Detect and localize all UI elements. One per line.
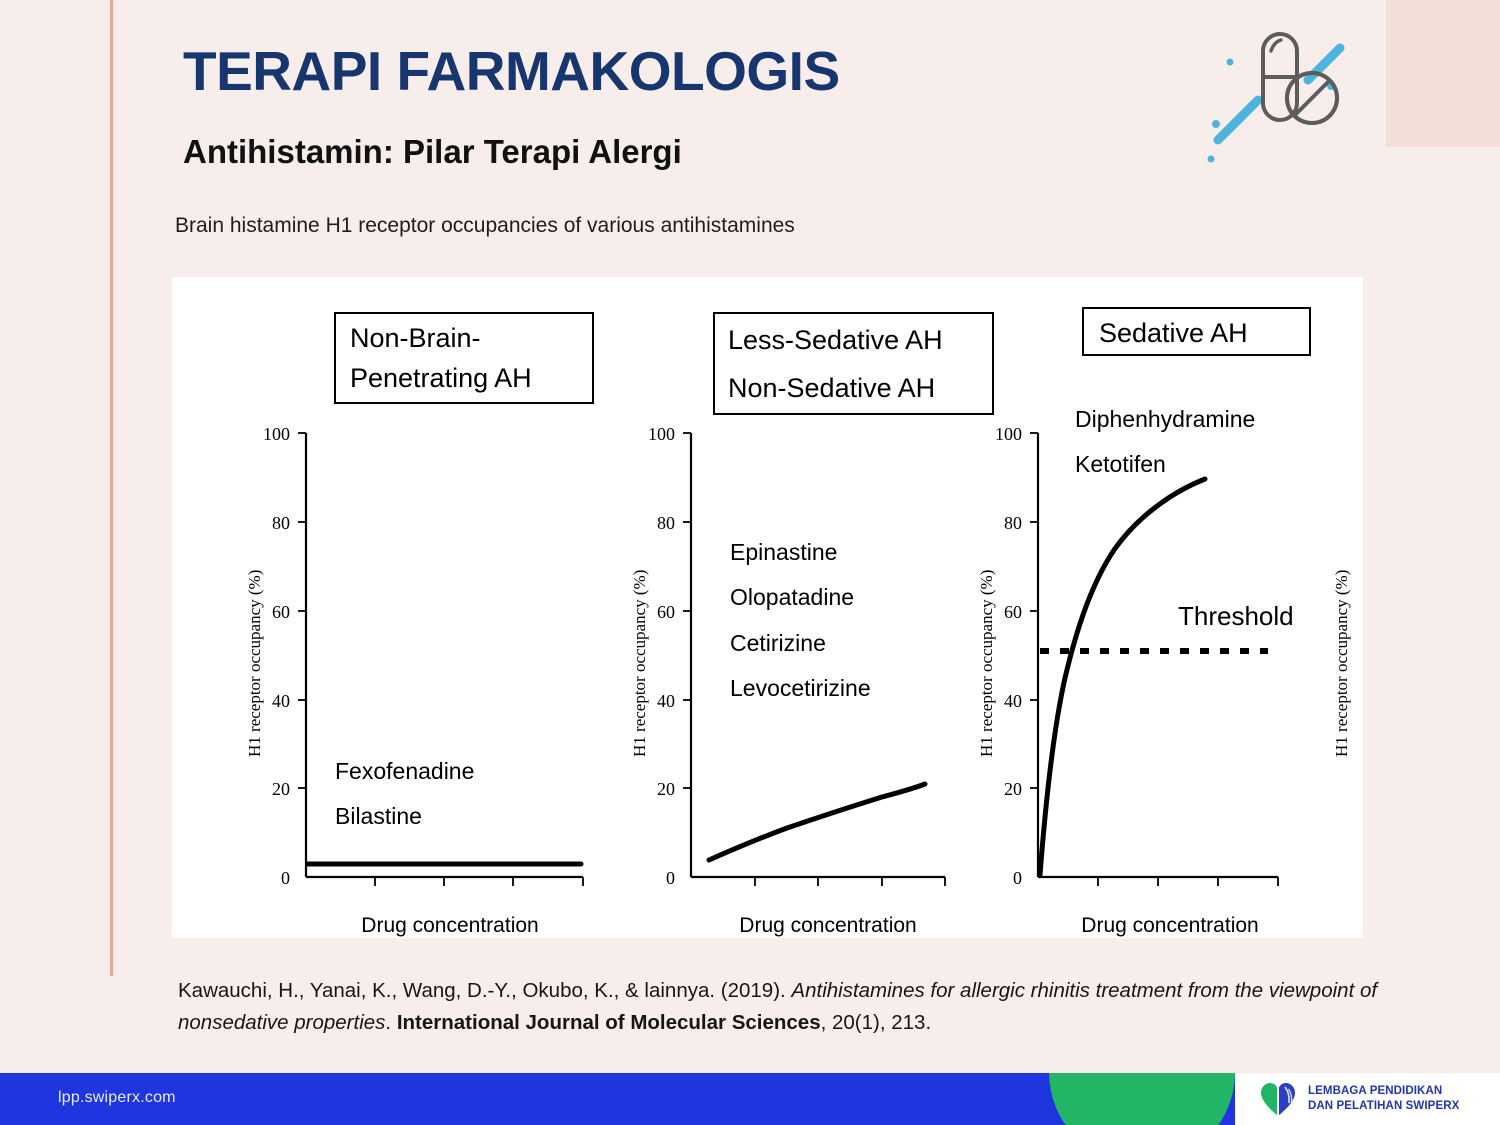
panel2-y-ticks <box>683 433 691 788</box>
panel1-ytick-0: 0 <box>281 868 290 888</box>
panel3-series-curve <box>1040 479 1205 875</box>
panel3-y-axis-label: H1 receptor occupancy (%) <box>977 570 996 757</box>
panel2-drug-label-4: Levocetirizine <box>730 675 871 701</box>
panel2-ytick-20: 20 <box>657 779 675 799</box>
panel2-drug-label-2: Olopatadine <box>730 584 854 610</box>
page-subtitle: Antihistamin: Pilar Terapi Alergi <box>183 135 682 168</box>
panel3-ytick-20: 20 <box>1004 779 1022 799</box>
panel2-title-line1: Less-Sedative AH <box>728 325 943 355</box>
panel1-ytick-80: 80 <box>272 513 290 533</box>
logo-line-1: LEMBAGA PENDIDIKAN <box>1308 1084 1459 1099</box>
panel2-x-axis-label: Drug concentration <box>739 914 916 937</box>
panel3-ytick-80: 80 <box>1004 513 1022 533</box>
citation-journal: International Journal of Molecular Scien… <box>397 1011 821 1034</box>
figure-caption: Brain histamine H1 receptor occupancies … <box>175 213 795 238</box>
panel3-drug-label-1: Diphenhydramine <box>1075 406 1255 432</box>
panel3-ytick-40: 40 <box>1004 691 1022 711</box>
corner-decor-block <box>1386 0 1500 147</box>
panel2-drug-label-1: Epinastine <box>730 539 837 565</box>
panel2-title-line2: Non-Sedative AH <box>728 373 935 403</box>
source-citation: Kawauchi, H., Yanai, K., Wang, D.-Y., Ok… <box>178 975 1448 1039</box>
panel1-ytick-20: 20 <box>272 779 290 799</box>
citation-sep: . <box>385 1011 396 1034</box>
panel2-ytick-100: 100 <box>648 424 675 444</box>
panel1-ytick-100: 100 <box>263 424 290 444</box>
panel2-ytick-0: 0 <box>666 868 675 888</box>
logo-line-2: DAN PELATIHAN SWIPERX <box>1308 1099 1459 1114</box>
panel2-y-axis-label: H1 receptor occupancy (%) <box>630 570 649 757</box>
footer-bar: lpp.swiperx.com LEMBAGA PENDIDIKAN DAN P… <box>0 1073 1500 1125</box>
panel3-ytick-0: 0 <box>1013 868 1022 888</box>
page-title: TERAPI FARMAKOLOGIS <box>183 44 840 99</box>
panel3-x-ticks <box>1098 877 1278 886</box>
panel3-x-axis-label: Drug concentration <box>1081 914 1258 937</box>
panel-sedative: Sedative AH 100 80 60 40 20 0 H1 recepto <box>977 308 1310 937</box>
panel1-ytick-60: 60 <box>272 602 290 622</box>
panel1-title-line1: Non-Brain- <box>350 323 481 353</box>
panel3-y-ticks <box>1030 433 1038 788</box>
panel3-threshold-label: Threshold <box>1178 601 1294 631</box>
panel2-y-axis-label-right: H1 receptor occupancy (%) <box>1332 570 1351 757</box>
citation-authors: Kawauchi, H., Yanai, K., Wang, D.-Y., Ok… <box>178 979 791 1002</box>
panel1-x-ticks <box>375 877 583 886</box>
panel1-x-axis-label: Drug concentration <box>361 914 538 937</box>
figure-container: .axis { stroke:#000; stroke-width:2.2; f… <box>172 277 1363 938</box>
panel3-ytick-60: 60 <box>1004 602 1022 622</box>
panel3-ytick-100: 100 <box>995 424 1022 444</box>
panel2-ytick-80: 80 <box>657 513 675 533</box>
panel1-ytick-40: 40 <box>272 691 290 711</box>
panel1-y-axis-label: H1 receptor occupancy (%) <box>245 570 264 757</box>
panel1-title-line2: Penetrating AH <box>350 363 532 393</box>
panel3-axes <box>1038 433 1278 877</box>
panel1-y-ticks <box>298 433 306 788</box>
panel3-title-line1: Sedative AH <box>1099 318 1248 348</box>
panel2-ytick-60: 60 <box>657 602 675 622</box>
panel2-drug-label-3: Cetirizine <box>730 630 826 656</box>
panel3-drug-label-2: Ketotifen <box>1075 451 1166 477</box>
panel2-ytick-40: 40 <box>657 691 675 711</box>
left-accent-rule <box>110 0 113 976</box>
panel1-drug-label-2: Bilastine <box>335 803 422 829</box>
panel2-x-ticks <box>755 877 945 886</box>
panel2-series-curve <box>709 784 925 860</box>
footer-url[interactable]: lpp.swiperx.com <box>58 1089 176 1107</box>
panel1-drug-label-1: Fexofenadine <box>335 758 474 784</box>
footer-green-shape <box>1049 1073 1235 1125</box>
brand-logo: LEMBAGA PENDIDIKAN DAN PELATIHAN SWIPERX <box>1235 1073 1500 1125</box>
capsule-and-tablet-icon <box>1200 18 1380 168</box>
heart-logo-icon <box>1259 1081 1299 1117</box>
antihistamine-occupancy-figure: .axis { stroke:#000; stroke-width:2.2; f… <box>172 277 1363 938</box>
citation-volume-pages: , 20(1), 213. <box>821 1011 932 1034</box>
panel-non-brain-penetrating: Non-Brain- Penetrating AH 100 80 60 40 2 <box>245 313 593 937</box>
